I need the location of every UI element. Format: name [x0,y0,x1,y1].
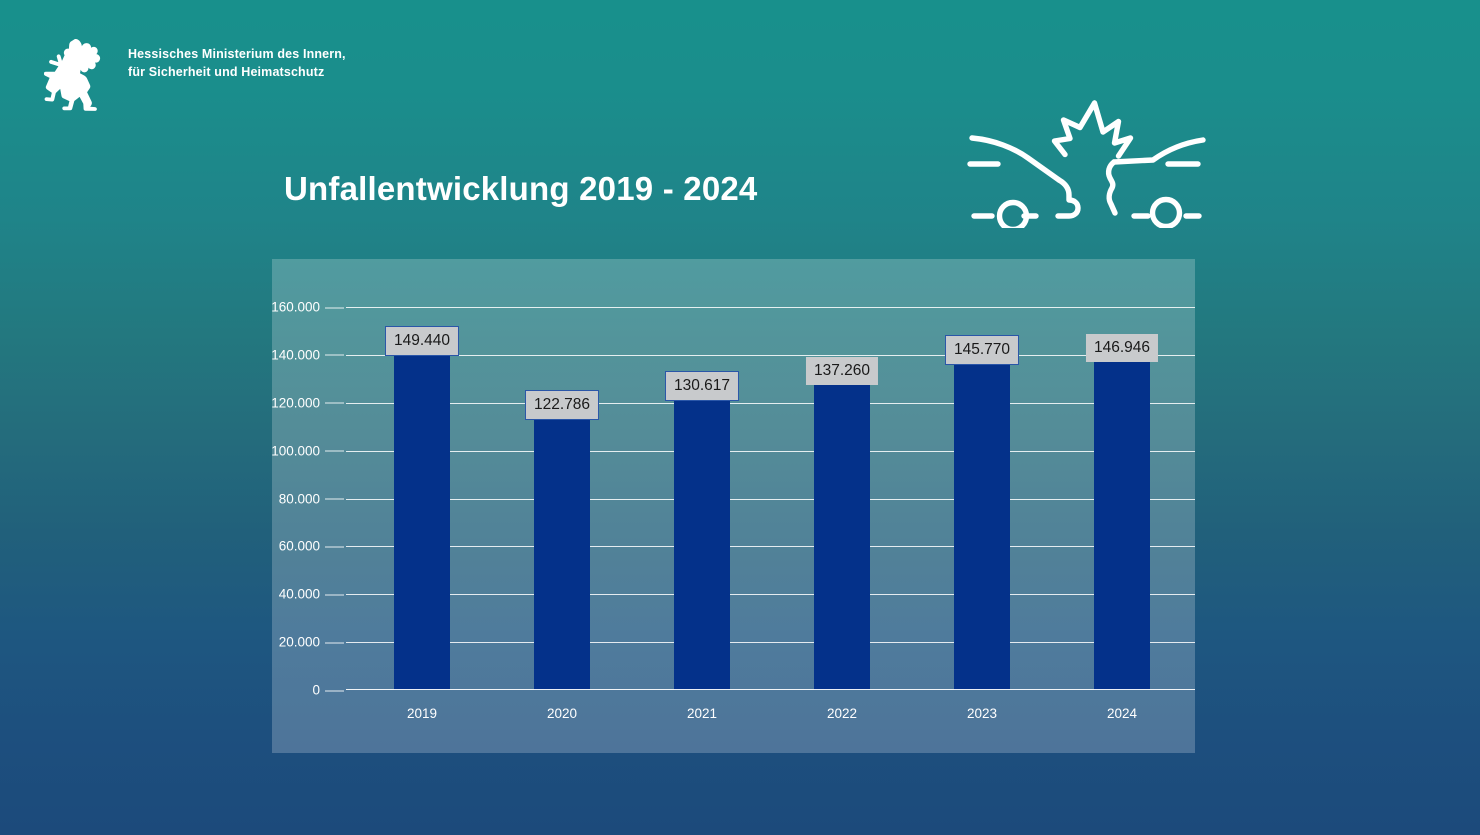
chart-panel: 020.00040.00060.00080.000100.000120.0001… [272,259,1195,753]
bar-value-label: 146.946 [1086,334,1158,363]
bar-slot: 122.786 [520,259,604,690]
bar[interactable] [674,377,730,690]
x-axis-tick-label: 2022 [800,706,884,721]
ministry-logo: Hessisches Ministerium des Innern, für S… [44,36,346,114]
bar-slot: 146.946 [1080,259,1164,690]
bar-series: 149.440122.786130.617137.260145.770146.9… [346,259,1195,690]
bar-slot: 149.440 [380,259,464,690]
y-axis-tick-label: 60.000 [226,539,346,554]
bar[interactable] [394,332,450,690]
y-axis-tick-label: 80.000 [226,491,346,506]
x-axis-tick-label: 2019 [380,706,464,721]
y-axis-tick-label: 20.000 [226,635,346,650]
y-axis-tick-label: 160.000 [226,300,346,315]
bar-slot: 145.770 [940,259,1024,690]
x-axis-tick-label: 2021 [660,706,744,721]
car-crash-icon [962,96,1214,228]
x-axis-tick-label: 2024 [1080,706,1164,721]
x-axis-tick-label: 2023 [940,706,1024,721]
bar-value-label: 130.617 [665,371,739,402]
bar-value-label: 149.440 [385,326,459,357]
bar-slot: 137.260 [800,259,884,690]
bar[interactable] [814,361,870,690]
ministry-name: Hessisches Ministerium des Innern, für S… [128,36,346,82]
bar-value-label: 145.770 [945,335,1019,366]
bar-value-label: 137.260 [806,357,878,386]
bar[interactable] [534,396,590,690]
y-axis-tick-label: 40.000 [226,587,346,602]
bar-value-label: 122.786 [525,390,599,421]
y-axis-tick-label: 120.000 [226,395,346,410]
y-axis-tick-label: 0 [226,683,346,698]
bar-slot: 130.617 [660,259,744,690]
x-axis-tick-label: 2020 [520,706,604,721]
y-axis-tick-label: 100.000 [226,443,346,458]
plot-area: 020.00040.00060.00080.000100.000120.0001… [346,259,1195,690]
page-title: Unfallentwicklung 2019 - 2024 [284,170,757,208]
y-axis-tick-label: 140.000 [226,347,346,362]
bar[interactable] [1094,338,1150,690]
bar[interactable] [954,341,1010,690]
hessen-lion-icon [44,36,114,114]
x-axis-labels: 201920202021202220232024 [346,690,1195,753]
